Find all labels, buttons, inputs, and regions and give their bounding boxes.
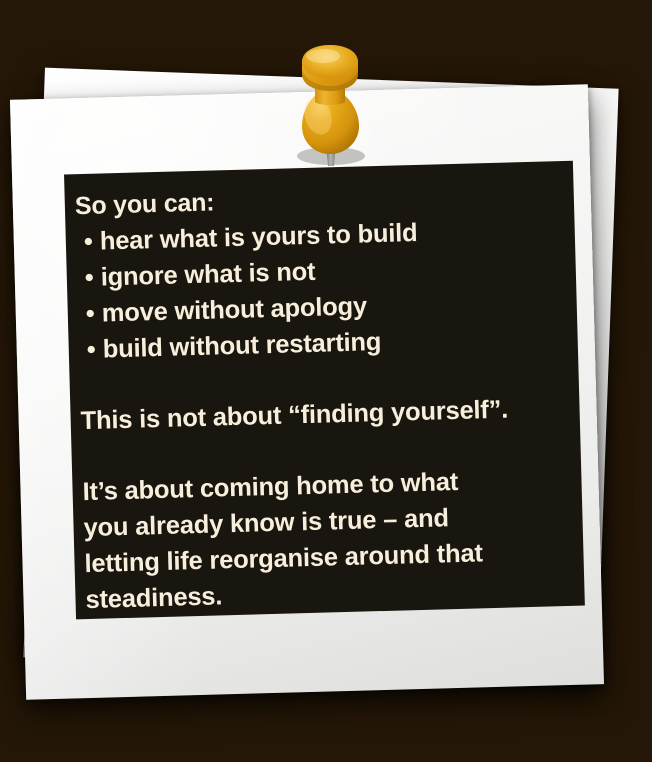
bullet-marker-icon: • [84,260,101,296]
bullet-marker-icon: • [86,332,103,368]
note-panel: So you can: •hear what is yours to build… [64,161,585,620]
bullet-item-label: build without restarting [102,328,381,364]
bullet-marker-icon: • [85,296,102,332]
bullet-marker-icon: • [83,224,100,260]
note-paragraph-two: It’s about coming home to what you alrea… [82,461,569,618]
note-bullet-list: •hear what is yours to build •ignore wha… [75,211,562,368]
pinned-note-scene: So you can: •hear what is yours to build… [0,0,652,762]
bullet-item-label: move without apology [101,292,367,327]
bullet-item-label: hear what is yours to build [99,219,417,256]
paper-sheet-front: So you can: •hear what is yours to build… [10,84,604,699]
bullet-item-label: ignore what is not [100,258,315,292]
